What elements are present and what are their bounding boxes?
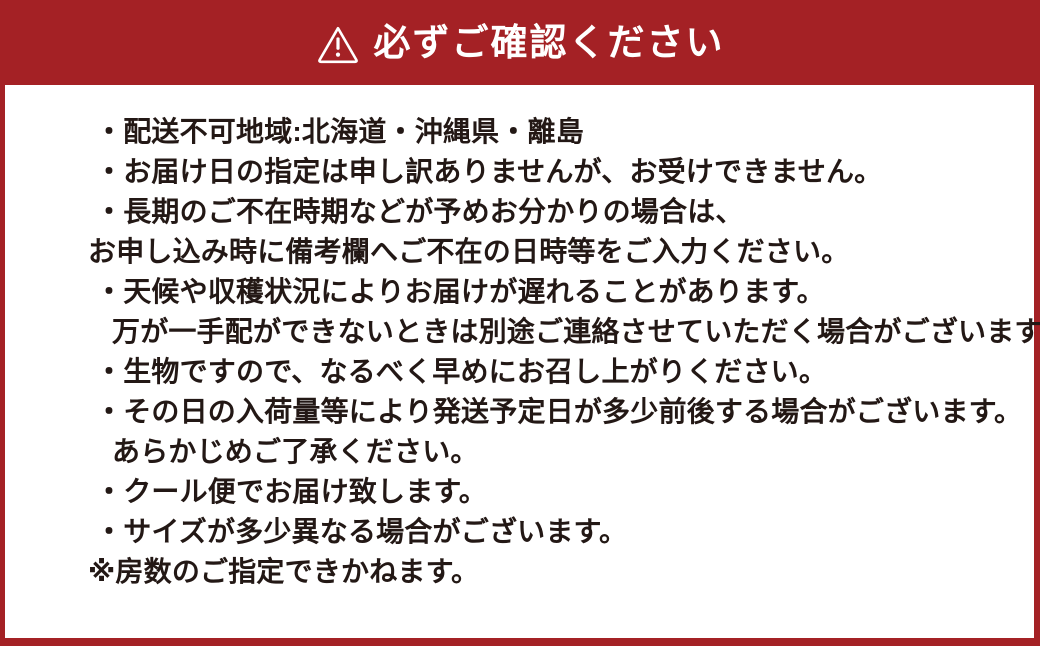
notice-line: ・配送不可地域:北海道・沖縄県・離島: [5, 112, 1034, 152]
notice-line: ・天候や収穫状況によりお届けが遅れることがあります。: [5, 272, 1034, 312]
warning-triangle-icon: [316, 24, 360, 64]
notice-body: ・配送不可地域:北海道・沖縄県・離島・お届け日の指定は申し訳ありませんが、お受け…: [0, 85, 1040, 646]
notice-line: ・クール便でお届け致します。: [5, 472, 1034, 512]
notice-line: あらかじめご了承ください。: [5, 432, 1034, 472]
notice-line: ・お届け日の指定は申し訳ありませんが、お受けできません。: [5, 152, 1034, 192]
notice-line: ・生物ですので、なるべく早めにお召し上がりください。: [5, 352, 1034, 392]
notice-line: ※房数のご指定できかねます。: [5, 552, 1034, 592]
page-title: 必ずご確認ください: [374, 24, 725, 61]
notice-list: ・配送不可地域:北海道・沖縄県・離島・お届け日の指定は申し訳ありませんが、お受け…: [5, 85, 1034, 592]
notice-line: ・その日の入荷量等により発送予定日が多少前後する場合がございます。: [5, 392, 1034, 432]
notice-line: ・長期のご不在時期などが予めお分かりの場合は、: [5, 192, 1034, 232]
notice-line: 万が一手配ができないときは別途ご連絡させていただく場合がございます。: [5, 312, 1034, 352]
notice-line: お申し込み時に備考欄へご不在の日時等をご入力ください。: [5, 232, 1034, 272]
notice-card: 必ずご確認ください ・配送不可地域:北海道・沖縄県・離島・お届け日の指定は申し訳…: [0, 0, 1040, 646]
notice-header: 必ずご確認ください: [0, 0, 1040, 85]
notice-line: ・サイズが多少異なる場合がございます。: [5, 512, 1034, 552]
